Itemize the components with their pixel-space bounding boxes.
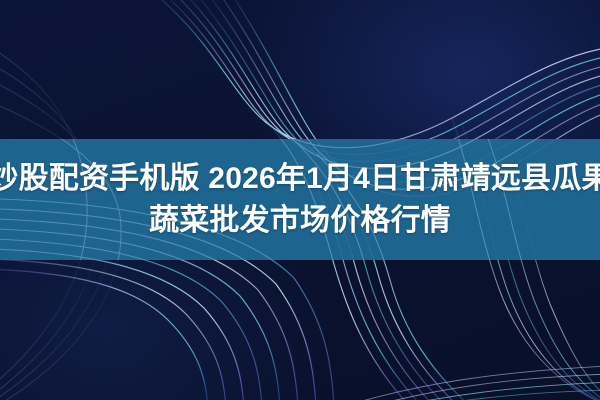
banner-title-block: 炒股配资手机版 2026年1月4日甘肃靖远县瓜果 蔬菜批发市场价格行情 [0, 139, 600, 260]
promo-banner: 炒股配资手机版 2026年1月4日甘肃靖远县瓜果 蔬菜批发市场价格行情 [0, 0, 600, 400]
banner-title-line-1: 炒股配资手机版 2026年1月4日甘肃靖远县瓜果 [0, 159, 600, 199]
banner-title-line-2: 蔬菜批发市场价格行情 [149, 201, 451, 241]
